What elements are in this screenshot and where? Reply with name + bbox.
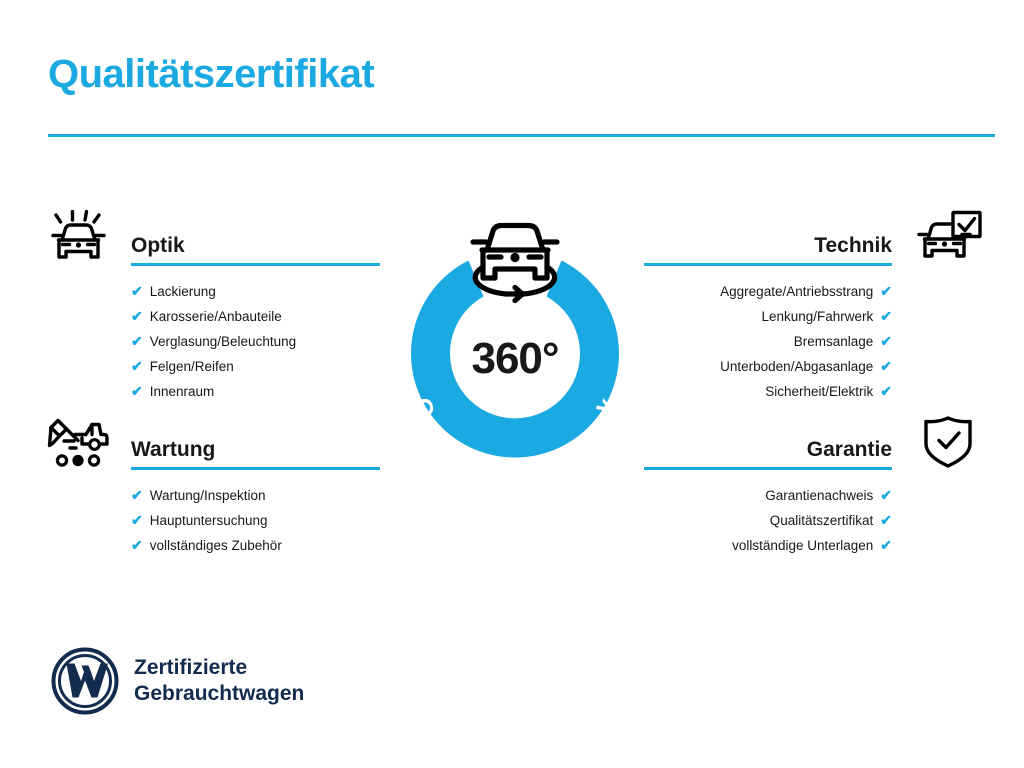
section-optik-heading: Optik — [131, 234, 185, 258]
section-wartung-heading: Wartung — [131, 438, 215, 462]
page-title: Qualitätszertifikat — [48, 52, 374, 96]
vw-certified-logo: Zertifizierte Gebrauchtwagen — [50, 646, 304, 716]
section-technik-header: Technik — [644, 208, 984, 270]
section-technik-list: Aggregate/Antriebsstrang✔ Lenkung/Fahrwe… — [644, 279, 984, 404]
vw-logo-line1: Zertifizierte — [134, 655, 304, 681]
list-item: ✔Innenraum — [131, 379, 380, 404]
check-icon: ✔ — [880, 533, 892, 557]
check-icon: ✔ — [131, 379, 143, 403]
badge-center-value: 360° — [370, 334, 660, 384]
list-item-label: Karosserie/Anbauteile — [150, 305, 282, 329]
check-icon: ✔ — [880, 483, 892, 507]
section-wartung-header: Wartung — [40, 412, 380, 474]
section-garantie-header: Garantie — [644, 412, 984, 474]
list-item: ✔Hauptuntersuchung — [131, 508, 380, 533]
list-item: Lenkung/Fahrwerk✔ — [644, 304, 892, 329]
badge-360-gebrauchtwagen-check: Gebrauchtwagen-Check — [370, 200, 660, 500]
service-book-pencil-icon — [42, 414, 114, 470]
list-item: ✔Verglasung/Beleuchtung — [131, 329, 380, 354]
section-garantie: Garantie Garantienachweis✔ Qualitätszert… — [644, 412, 984, 558]
car-polish-icon — [42, 210, 114, 266]
section-technik-divider — [644, 263, 892, 266]
list-item: Qualitätszertifikat✔ — [644, 508, 892, 533]
list-item-label: Aggregate/Antriebsstrang — [720, 280, 873, 304]
title-divider — [48, 134, 995, 137]
car-checkbox-icon — [912, 210, 984, 266]
section-garantie-divider — [644, 467, 892, 470]
list-item-label: Innenraum — [150, 380, 215, 404]
list-item: ✔Wartung/Inspektion — [131, 483, 380, 508]
list-item-label: vollständige Unterlagen — [732, 534, 873, 558]
section-optik-divider — [131, 263, 380, 266]
check-icon: ✔ — [131, 483, 143, 507]
list-item: ✔Felgen/Reifen — [131, 354, 380, 379]
list-item-label: Lenkung/Fahrwerk — [761, 305, 873, 329]
certificate-page: Qualitätszertifikat — [0, 0, 1024, 768]
check-icon: ✔ — [131, 329, 143, 353]
section-optik-header: Optik — [40, 208, 380, 270]
list-item: Bremsanlage✔ — [644, 329, 892, 354]
section-wartung-list: ✔Wartung/Inspektion ✔Hauptuntersuchung ✔… — [40, 483, 380, 558]
section-technik-heading: Technik — [814, 234, 892, 258]
list-item: ✔Karosserie/Anbauteile — [131, 304, 380, 329]
list-item: Unterboden/Abgasanlage✔ — [644, 354, 892, 379]
list-item-label: vollständiges Zubehör — [150, 534, 282, 558]
vw-logo-wordmark: Zertifizierte Gebrauchtwagen — [134, 655, 304, 707]
list-item-label: Wartung/Inspektion — [150, 484, 266, 508]
list-item-label: Lackierung — [150, 280, 216, 304]
check-icon: ✔ — [880, 279, 892, 303]
list-item-label: Qualitätszertifikat — [770, 509, 874, 533]
shield-check-icon — [912, 414, 984, 470]
section-optik: Optik ✔Lackierung ✔Karosserie/Anbauteile… — [40, 208, 380, 404]
check-icon: ✔ — [880, 379, 892, 403]
list-item-label: Verglasung/Beleuchtung — [150, 330, 296, 354]
check-icon: ✔ — [880, 304, 892, 328]
check-icon: ✔ — [880, 329, 892, 353]
check-icon: ✔ — [131, 508, 143, 532]
vw-logo-line2: Gebrauchtwagen — [134, 681, 304, 707]
section-wartung-divider — [131, 467, 380, 470]
list-item: vollständige Unterlagen✔ — [644, 533, 892, 558]
list-item-label: Hauptuntersuchung — [150, 509, 268, 533]
list-item-label: Felgen/Reifen — [150, 355, 234, 379]
list-item: ✔vollständiges Zubehör — [131, 533, 380, 558]
list-item-label: Sicherheit/Elektrik — [765, 380, 873, 404]
section-garantie-list: Garantienachweis✔ Qualitätszertifikat✔ v… — [644, 483, 984, 558]
check-icon: ✔ — [880, 508, 892, 532]
vw-logo-icon — [50, 646, 120, 716]
list-item-label: Garantienachweis — [765, 484, 873, 508]
list-item-label: Unterboden/Abgasanlage — [720, 355, 873, 379]
section-wartung: Wartung ✔Wartung/Inspektion ✔Hauptunters… — [40, 412, 380, 558]
check-icon: ✔ — [880, 354, 892, 378]
list-item: Garantienachweis✔ — [644, 483, 892, 508]
list-item: ✔Lackierung — [131, 279, 380, 304]
list-item: Aggregate/Antriebsstrang✔ — [644, 279, 892, 304]
section-garantie-heading: Garantie — [807, 438, 892, 462]
car-rotation-icon — [473, 226, 557, 301]
section-technik: Technik Aggregate/Antriebsstrang✔ Lenkun… — [644, 208, 984, 404]
check-icon: ✔ — [131, 354, 143, 378]
list-item: Sicherheit/Elektrik✔ — [644, 379, 892, 404]
check-icon: ✔ — [131, 279, 143, 303]
check-icon: ✔ — [131, 304, 143, 328]
check-icon: ✔ — [131, 533, 143, 557]
section-optik-list: ✔Lackierung ✔Karosserie/Anbauteile ✔Verg… — [40, 279, 380, 404]
list-item-label: Bremsanlage — [794, 330, 874, 354]
